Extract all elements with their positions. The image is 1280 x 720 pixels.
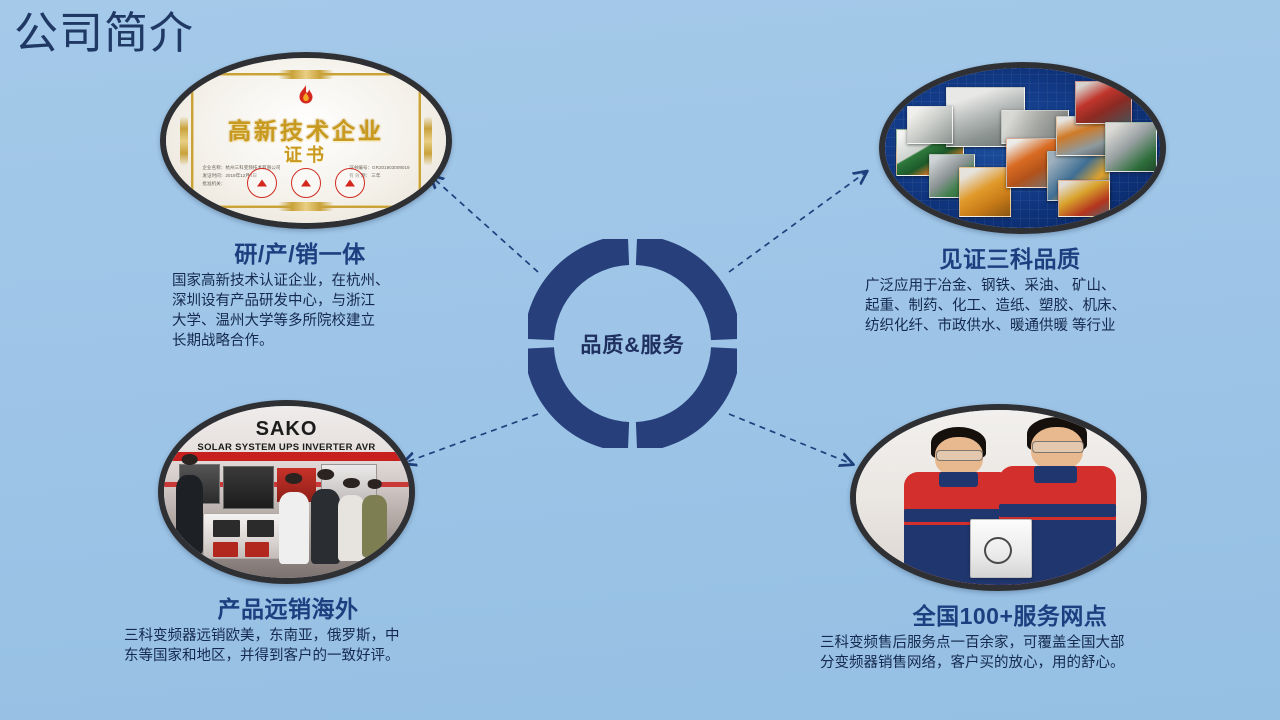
visitor-head xyxy=(317,469,335,480)
technician-collar xyxy=(1034,466,1077,483)
collage-photo xyxy=(1058,180,1110,217)
collage-photo xyxy=(1075,81,1132,125)
visitor-head xyxy=(181,454,198,465)
uniform-stripe xyxy=(999,504,1116,518)
body-line: 起重、制药、化工、造纸、塑胶、机床、 xyxy=(865,296,1165,316)
fan-grille-icon xyxy=(984,537,1012,564)
body-line: 纺织化纤、市政供水、暖通供暖 等行业 xyxy=(865,316,1165,336)
booth-product-unit xyxy=(247,520,274,537)
collage-photo xyxy=(907,106,953,143)
official-seal-icon xyxy=(291,168,321,198)
body-line: 三科变频售后服务点一百余家，可覆盖全国大部 xyxy=(820,633,1200,653)
connector-top-right xyxy=(729,172,866,272)
quadrant-overseas-sales: SAKO SOLAR SYSTEM UPS INVERTER AVR xyxy=(118,400,458,666)
brand-tagline: SOLAR SYSTEM UPS INVERTER AVR xyxy=(197,442,375,453)
high-tech-enterprise-certificate: 高新技术企业 证书 企业名称：杭州三科变频技术有限公司 发证时间：2019年12… xyxy=(160,52,452,229)
quadrant-body: 国家高新技术认证企业，在杭州、 深圳设有产品研发中心，与浙江 大学、温州大学等多… xyxy=(172,271,450,351)
center-hub: 品质&服务 xyxy=(528,239,737,448)
body-line: 长期战略合作。 xyxy=(172,331,450,351)
certificate-artwork: 高新技术企业 证书 企业名称：杭州三科变频技术有限公司 发证时间：2019年12… xyxy=(166,58,446,223)
booth-product-unit xyxy=(245,542,270,557)
safety-glasses-icon xyxy=(1032,441,1084,453)
booth-display-case xyxy=(223,466,274,509)
booth-red-band xyxy=(164,452,409,461)
technicians-artwork xyxy=(856,410,1141,585)
quadrant-title: 全国100+服务网点 xyxy=(820,597,1200,631)
body-line: 广泛应用于冶金、钢铁、采油、 矿山、 xyxy=(865,276,1165,296)
safety-glasses-icon xyxy=(936,450,984,462)
trade-show-booth-photo: SAKO SOLAR SYSTEM UPS INVERTER AVR xyxy=(158,400,415,584)
quadrant-body: 三科变频售后服务点一百余家，可覆盖全国大部 分变频器销售网络，客户买的放心，用的… xyxy=(820,633,1200,673)
body-line: 国家高新技术认证企业，在杭州、 xyxy=(172,271,450,291)
body-line: 分变频器销售网络，客户买的放心，用的舒心。 xyxy=(820,653,1200,673)
body-line: 东等国家和地区，并得到客户的一致好评。 xyxy=(124,646,458,666)
certificate-seals xyxy=(166,168,446,198)
technician-collar xyxy=(939,472,978,486)
visitor-head xyxy=(367,479,382,488)
industrial-applications-collage xyxy=(879,62,1166,234)
booth-visitor xyxy=(362,495,387,557)
booth-brand-sign: SAKO SOLAR SYSTEM UPS INVERTER AVR xyxy=(197,418,375,453)
official-seal-icon xyxy=(247,168,277,198)
quadrant-rd-production-sales: 高新技术企业 证书 企业名称：杭州三科变频技术有限公司 发证时间：2019年12… xyxy=(150,52,450,351)
collage-artwork xyxy=(885,68,1160,228)
quadrant-service-network: 全国100+服务网点 三科变频售后服务点一百余家，可覆盖全国大部 分变频器销售网… xyxy=(820,404,1200,673)
certificate-subheading: 证书 xyxy=(166,141,446,167)
booth-product-unit xyxy=(213,520,240,537)
slide-canvas: 公司简介 品质&服务 xyxy=(0,0,1280,720)
booth-product-unit xyxy=(213,542,238,557)
hub-label: 品质&服务 xyxy=(528,239,737,448)
body-line: 深圳设有产品研发中心，与浙江 xyxy=(172,291,450,311)
quadrant-title: 产品远销海外 xyxy=(118,590,458,624)
collage-photo xyxy=(959,167,1011,217)
body-line: 大学、温州大学等多所院校建立 xyxy=(172,311,450,331)
quadrant-body: 广泛应用于冶金、钢铁、采油、 矿山、 起重、制药、化工、造纸、塑胶、机床、 纺织… xyxy=(865,276,1165,336)
booth-visitor xyxy=(338,495,365,560)
flame-logo-icon xyxy=(293,84,319,110)
product-unit xyxy=(970,519,1032,579)
quadrant-body: 三科变频器远销欧美，东南亚，俄罗斯，中 东等国家和地区，并得到客户的一致好评。 xyxy=(124,626,458,666)
body-line: 三科变频器远销欧美，东南亚，俄罗斯，中 xyxy=(124,626,458,646)
booth-visitor xyxy=(279,492,308,564)
visitor-head xyxy=(343,478,359,488)
brand-name: SAKO xyxy=(197,418,375,441)
visitor-head xyxy=(285,473,303,484)
quadrant-title: 研/产/销一体 xyxy=(150,235,450,269)
expo-artwork: SAKO SOLAR SYSTEM UPS INVERTER AVR xyxy=(164,406,409,578)
booth-visitor xyxy=(311,489,340,565)
quadrant-title: 见证三科品质 xyxy=(855,240,1165,274)
booth-visitor xyxy=(176,475,203,554)
certificate-ornament-top xyxy=(278,70,334,79)
collage-photo xyxy=(1105,122,1157,172)
service-technicians-photo xyxy=(850,404,1147,591)
certificate-ornament-bottom xyxy=(278,202,334,211)
official-seal-icon xyxy=(335,168,365,198)
quadrant-witness-quality: 见证三科品质 广泛应用于冶金、钢铁、采油、 矿山、 起重、制药、化工、造纸、塑胶… xyxy=(855,62,1165,336)
